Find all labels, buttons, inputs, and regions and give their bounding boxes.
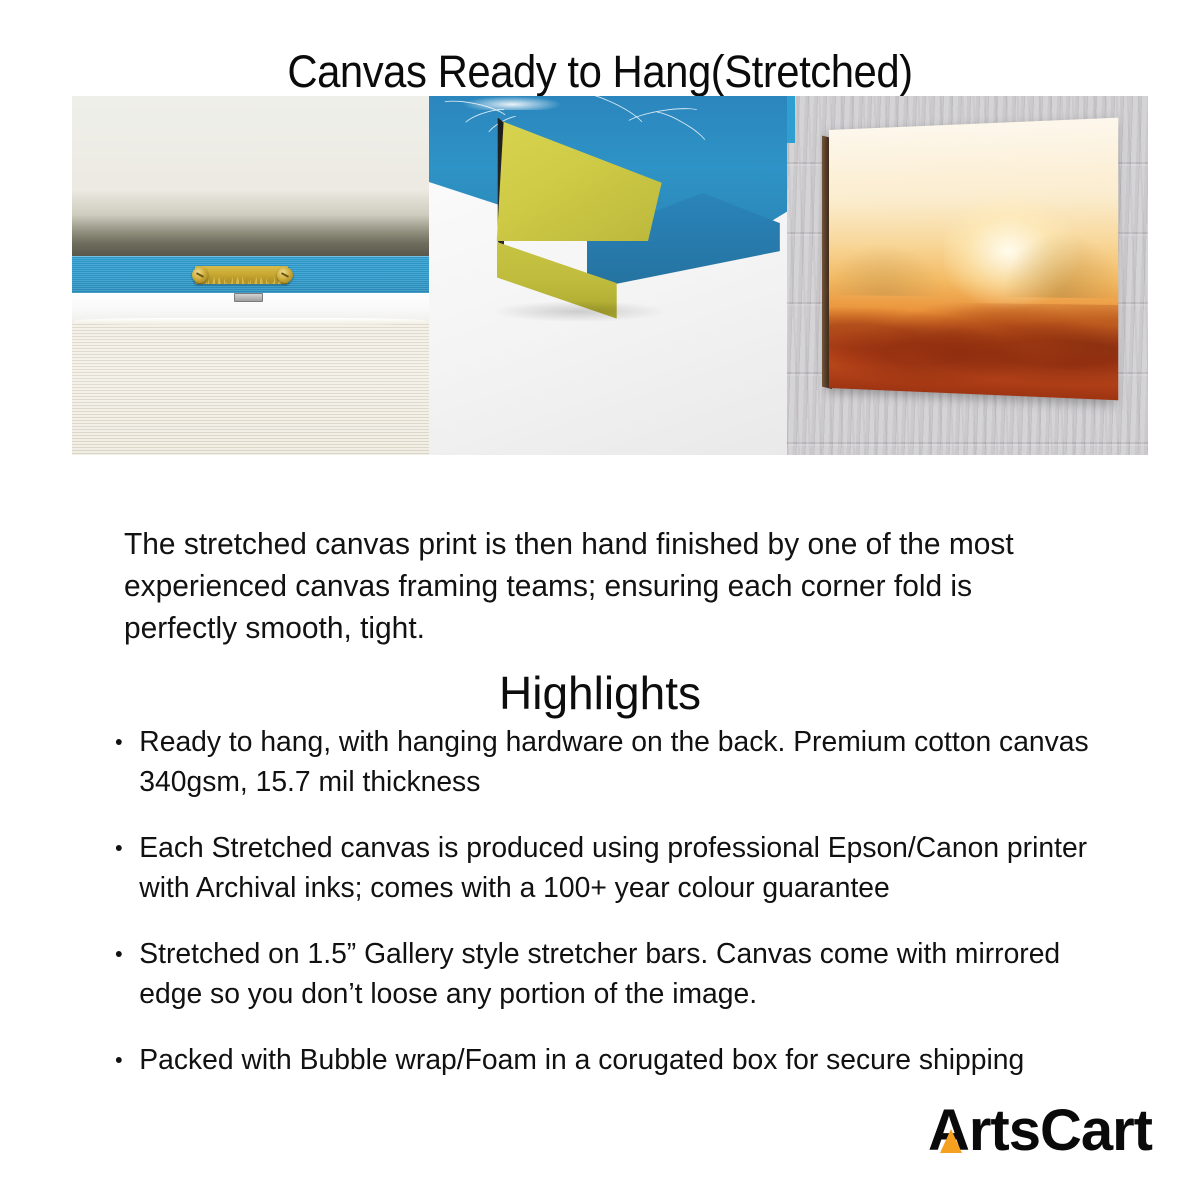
hill-right [1001, 231, 1123, 299]
list-item-text: Each Stretched canvas is produced using … [139, 832, 1087, 904]
bullet-dot-icon [116, 845, 122, 851]
hill-left [823, 243, 943, 297]
list-item: Ready to hang, with hanging hardware on … [112, 722, 1097, 802]
list-item-text: Ready to hang, with hanging hardware on … [139, 726, 1088, 798]
gallery-panel-canvas-back-hardware [72, 96, 429, 455]
canvas-back-fabric [72, 321, 429, 455]
logo-triangle-icon [940, 1129, 962, 1153]
sunset-canvas-print [829, 118, 1118, 401]
highlights-heading: Highlights [0, 665, 1200, 721]
bullet-dot-icon [116, 739, 122, 745]
hanger-screw-left-icon [192, 267, 208, 283]
gallery-panel-canvas-hung-on-wall [787, 96, 1148, 455]
bullet-dot-icon [116, 951, 122, 957]
sawtooth-hanger-icon [195, 266, 288, 285]
list-item: Packed with Bubble wrap/Foam in a coruga… [112, 1040, 1097, 1080]
hanger-screw-right-icon [277, 267, 293, 283]
page-title: Canvas Ready to Hang(Stretched) [42, 46, 1158, 98]
intro-paragraph: The stretched canvas print is then hand … [124, 523, 1050, 649]
adjacent-panel-edge [787, 96, 795, 143]
canvas-drop-shadow [493, 301, 665, 323]
hanger-clip-icon [234, 293, 263, 302]
list-item-text: Packed with Bubble wrap/Foam in a coruga… [139, 1044, 1024, 1076]
list-item-text: Stretched on 1.5” Gallery style stretche… [139, 938, 1060, 1010]
gallery-panel-canvas-corner-fold [429, 96, 787, 455]
gallery-strip [72, 96, 1148, 455]
list-item: Stretched on 1.5” Gallery style stretche… [112, 934, 1097, 1014]
foreground-foliage [829, 301, 1118, 401]
highlights-list: Ready to hang, with hanging hardware on … [112, 722, 1122, 1106]
brand-logo: ArtsCart [928, 1100, 1152, 1162]
bullet-dot-icon [116, 1057, 122, 1063]
list-item: Each Stretched canvas is produced using … [112, 828, 1097, 908]
